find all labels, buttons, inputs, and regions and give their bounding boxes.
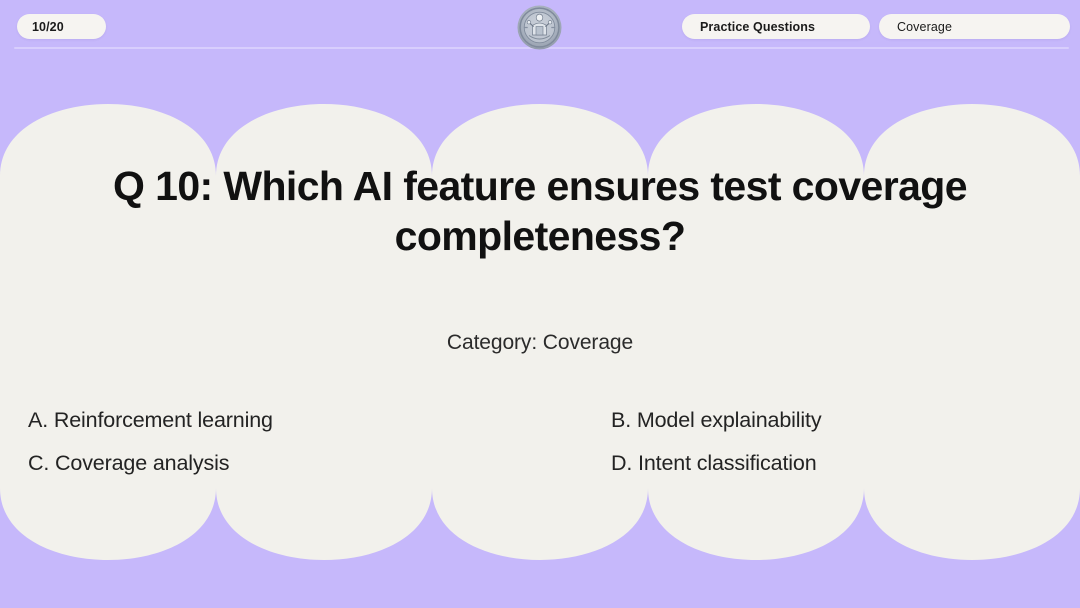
answer-option-c[interactable]: C. Coverage analysis: [28, 447, 611, 480]
category-badge[interactable]: Coverage: [879, 14, 1070, 39]
answer-option-d[interactable]: D. Intent classification: [611, 447, 1052, 480]
category-badge-label: Coverage: [897, 20, 952, 34]
slide-root: Q 10: Which AI feature ensures test cove…: [0, 0, 1080, 608]
question-category-label: Category: Coverage: [90, 331, 990, 355]
seal-logo-icon: [517, 5, 562, 50]
question-title: Q 10: Which AI feature ensures test cove…: [90, 161, 990, 262]
answer-option-a[interactable]: A. Reinforcement learning: [28, 404, 611, 437]
deck-badge-label: Practice Questions: [700, 20, 815, 34]
card-content: Q 10: Which AI feature ensures test cove…: [0, 56, 1080, 608]
deck-badge[interactable]: Practice Questions: [682, 14, 870, 39]
header-bar: 10/20: [0, 0, 1080, 54]
progress-badge[interactable]: 10/20: [17, 14, 106, 39]
answer-option-b[interactable]: B. Model explainability: [611, 404, 1052, 437]
answer-options-grid: A. Reinforcement learning B. Model expla…: [28, 404, 1052, 481]
progress-badge-label: 10/20: [32, 20, 64, 34]
